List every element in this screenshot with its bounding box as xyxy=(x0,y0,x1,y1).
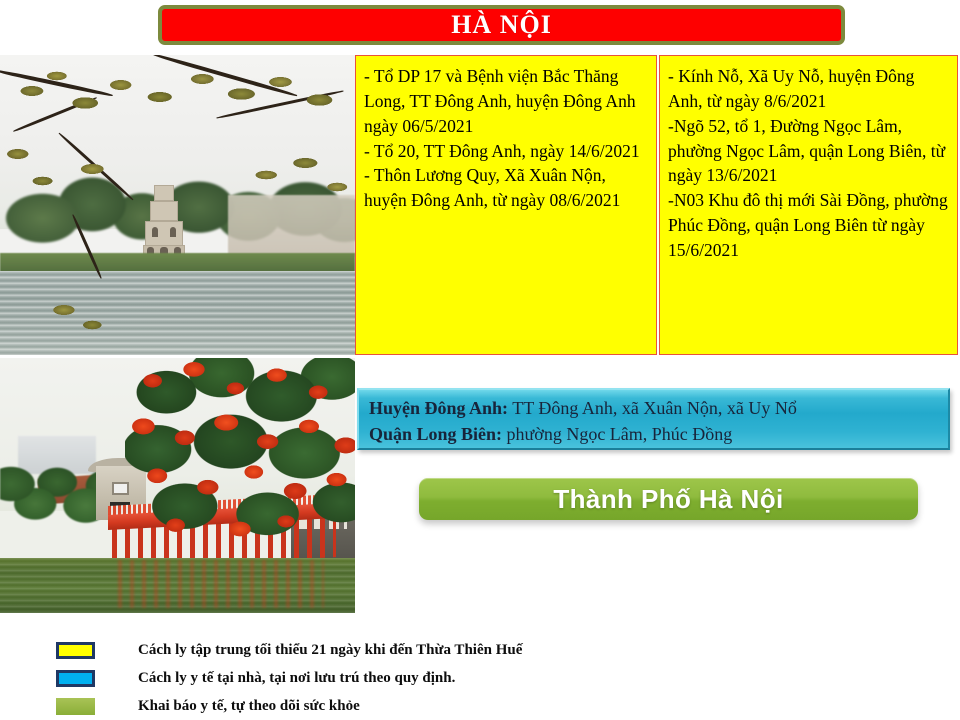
legend: Cách ly tập trung tối thiểu 21 ngày khi … xyxy=(56,636,936,720)
info-line: - Tổ 20, TT Đông Anh, ngày 14/6/2021 xyxy=(364,139,650,164)
page-title-banner: HÀ NỘI xyxy=(158,5,845,45)
page-title: HÀ NỘI xyxy=(451,12,552,38)
bridge-reflection xyxy=(118,560,324,608)
info-line: -Ngõ 52, tổ 1, Đường Ngọc Lâm, phường Ng… xyxy=(668,114,951,189)
photo-hoan-kiem-lake xyxy=(0,55,355,355)
legend-swatch-blue-icon xyxy=(56,670,95,687)
info-box-right: - Kính Nỗ, Xã Uy Nỗ, huyện Đông Anh, từ … xyxy=(659,55,958,355)
summary-value: phường Ngọc Lâm, Phúc Đồng xyxy=(502,424,732,444)
summary-label: Huyện Đông Anh: xyxy=(369,398,508,418)
legend-swatch-yellow-icon xyxy=(56,642,95,659)
legend-swatch-green-icon xyxy=(56,698,95,715)
flame-tree-flowers xyxy=(125,358,355,548)
slide-root: HÀ NỘI xyxy=(0,0,960,720)
summary-box: Huyện Đông Anh: TT Đông Anh, xã Xuân Nộn… xyxy=(357,388,950,450)
legend-item: Khai báo y tế, tự theo dõi sức khỏe xyxy=(56,692,936,720)
photo-the-huc-bridge xyxy=(0,358,355,613)
foliage xyxy=(0,55,355,355)
info-box-left: - Tổ DP 17 và Bệnh viện Bắc Thăng Long, … xyxy=(355,55,657,355)
summary-row: Huyện Đông Anh: TT Đông Anh, xã Xuân Nộn… xyxy=(369,395,948,421)
summary-row: Quận Long Biên: phường Ngọc Lâm, Phúc Đồ… xyxy=(369,421,948,447)
legend-label: Cách ly y tế tại nhà, tại nơi lưu trú th… xyxy=(138,670,455,687)
info-line: -N03 Khu đô thị mới Sài Đồng, phường Phú… xyxy=(668,188,951,263)
legend-item: Cách ly tập trung tối thiểu 21 ngày khi … xyxy=(56,636,936,664)
left-foliage xyxy=(0,448,110,538)
info-line: - Kính Nỗ, Xã Uy Nỗ, huyện Đông Anh, từ … xyxy=(668,64,951,114)
legend-label: Khai báo y tế, tự theo dõi sức khỏe xyxy=(138,698,360,715)
city-name-label: Thành Phố Hà Nội xyxy=(553,484,783,515)
info-line: - Thôn Lương Quy, Xã Xuân Nộn, huyện Đôn… xyxy=(364,163,650,213)
legend-label: Cách ly tập trung tối thiểu 21 ngày khi … xyxy=(138,642,522,659)
legend-item: Cách ly y tế tại nhà, tại nơi lưu trú th… xyxy=(56,664,936,692)
summary-value: TT Đông Anh, xã Xuân Nộn, xã Uy Nổ xyxy=(508,398,797,418)
summary-label: Quận Long Biên: xyxy=(369,424,502,444)
city-name-button[interactable]: Thành Phố Hà Nội xyxy=(419,478,918,520)
info-line: - Tổ DP 17 và Bệnh viện Bắc Thăng Long, … xyxy=(364,64,650,139)
